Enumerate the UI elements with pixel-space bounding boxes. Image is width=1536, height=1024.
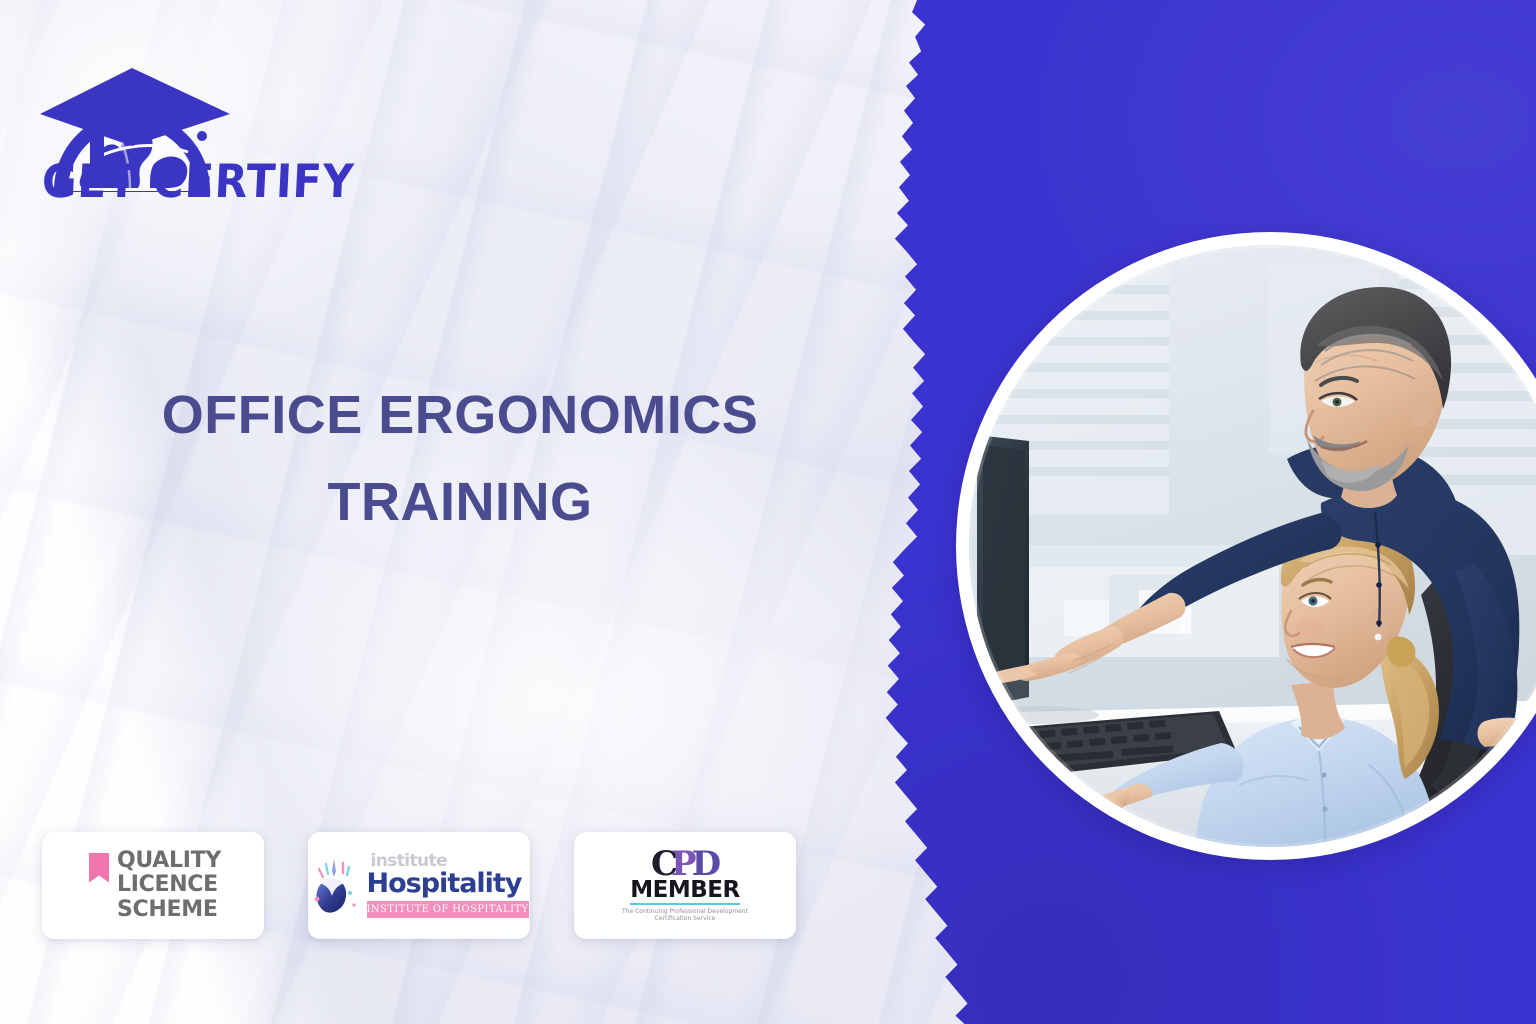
badge-quality-licence-scheme[interactable]: QUALITY LICENCE SCHEME [42,832,264,939]
cpd-letter-d: D [692,848,719,880]
ioh-line-hospitality: Hospitality [367,870,529,898]
office-training-illustration [969,245,1536,847]
qls-line1: QUALITY [117,849,221,874]
hospitality-floral-emblem-icon [310,855,360,917]
qls-logo: QUALITY LICENCE SCHEME [85,849,221,923]
brand-wordmark: GET CERTIFY [41,158,355,204]
cpd-subtitle: The Continuing Professional Development … [610,908,760,923]
cpd-member-label: MEMBER [630,879,739,905]
ioh-pink-banner: INSTITUTE OF HOSPITALITY [367,901,529,918]
ioh-logo-text: institute Hospitality INSTITUTE OF HOSPI… [367,853,529,918]
qls-line2: LICENCE [117,873,221,898]
cpd-logo: C P D MEMBER The Continuing Professional… [610,848,760,922]
qls-line3: SCHEME [117,898,221,923]
hero-photo [969,245,1536,847]
course-banner: GET CERTIFY OFFICE ERGONOMICS TRAINING Q… [0,0,1536,1024]
ioh-banner-text: INSTITUTE OF HOSPITALITY [367,904,529,915]
accreditation-badges: QUALITY LICENCE SCHEME [42,832,796,939]
cpd-letters: C P D [651,848,719,880]
page-title-line1: OFFICE ERGONOMICS [60,372,860,459]
page-title: OFFICE ERGONOMICS TRAINING [60,372,860,547]
badge-institute-of-hospitality[interactable]: institute Hospitality INSTITUTE OF HOSPI… [308,832,530,939]
brand-logo[interactable]: GET CERTIFY [24,40,240,222]
qls-logo-text: QUALITY LICENCE SCHEME [117,849,221,923]
ioh-logo: institute Hospitality INSTITUTE OF HOSPI… [308,853,530,918]
page-title-line2: TRAINING [60,459,860,546]
badge-cpd-member[interactable]: C P D MEMBER The Continuing Professional… [574,832,796,939]
pink-bookmark-ribbon-icon [89,853,109,883]
